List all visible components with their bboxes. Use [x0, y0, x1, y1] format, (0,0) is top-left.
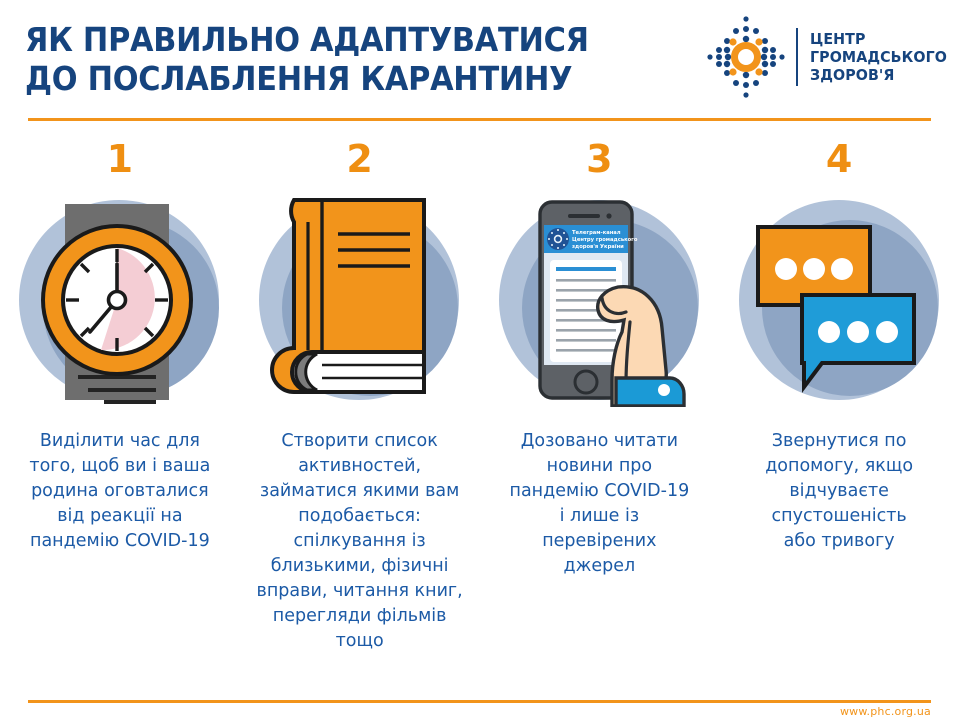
step-item-1: 1	[0, 140, 240, 700]
footer-divider-rule	[28, 700, 931, 703]
step-caption-4: Звернутися по допомогу, якщо відчуваєте …	[732, 429, 947, 554]
logo-text: ЦЕНТР ГРОМАДСЬКОГО ЗДОРОВ'Я	[810, 30, 947, 84]
speech-bubbles-icon	[732, 192, 947, 407]
page-title-line-1: ЯК ПРАВИЛЬНО АДАПТУВАТИСЯ	[25, 20, 595, 59]
step-caption-1: Виділити час для того, щоб ви і ваша род…	[12, 429, 227, 554]
header-divider-rule	[28, 118, 931, 121]
step-number-2: 2	[346, 140, 372, 188]
phone-in-hand-icon: Телеграм-канал Центру громадського здоро…	[492, 192, 707, 407]
infographic-page: ЯК ПРАВИЛЬНО АДАПТУВАТИСЯ ДО ПОСЛАБЛЕННЯ…	[0, 0, 959, 720]
step-number-1: 1	[107, 140, 133, 188]
step-item-2: 2	[240, 140, 480, 700]
step-item-3: 3	[480, 140, 720, 700]
header: ЯК ПРАВИЛЬНО АДАПТУВАТИСЯ ДО ПОСЛАБЛЕННЯ…	[0, 0, 959, 112]
step-number-4: 4	[826, 140, 852, 188]
logo-text-line-2: ГРОМАДСЬКОГО	[810, 48, 947, 66]
page-title-line-2: ДО ПОСЛАБЛЕННЯ КАРАНТИНУ	[25, 59, 595, 98]
svg-text:Центру громадського: Центру громадського	[572, 237, 638, 243]
logo-text-line-1: ЦЕНТР	[810, 30, 947, 48]
logo-divider	[796, 28, 798, 86]
svg-text:здоров'я України: здоров'я України	[572, 244, 624, 250]
step-caption-3: Дозовано читати новини про пандемію COVI…	[492, 429, 707, 579]
steps-row: 1	[0, 140, 959, 700]
phc-logo: ЦЕНТР ГРОМАДСЬКОГО ЗДОРОВ'Я	[700, 14, 950, 100]
step-caption-2: Створити список активностей, займатися я…	[252, 429, 467, 654]
phc-dot-sun-logo-icon	[700, 14, 792, 100]
logo-text-line-3: ЗДОРОВ'Я	[810, 66, 947, 84]
svg-text:Телеграм-канал: Телеграм-канал	[572, 230, 621, 236]
step-number-3: 3	[586, 140, 612, 188]
book-icon	[252, 192, 467, 407]
website-link[interactable]: www.phc.org.ua	[840, 705, 931, 718]
wristwatch-icon	[12, 192, 227, 407]
page-title: ЯК ПРАВИЛЬНО АДАПТУВАТИСЯ ДО ПОСЛАБЛЕННЯ…	[25, 20, 595, 98]
step-item-4: 4	[719, 140, 959, 700]
